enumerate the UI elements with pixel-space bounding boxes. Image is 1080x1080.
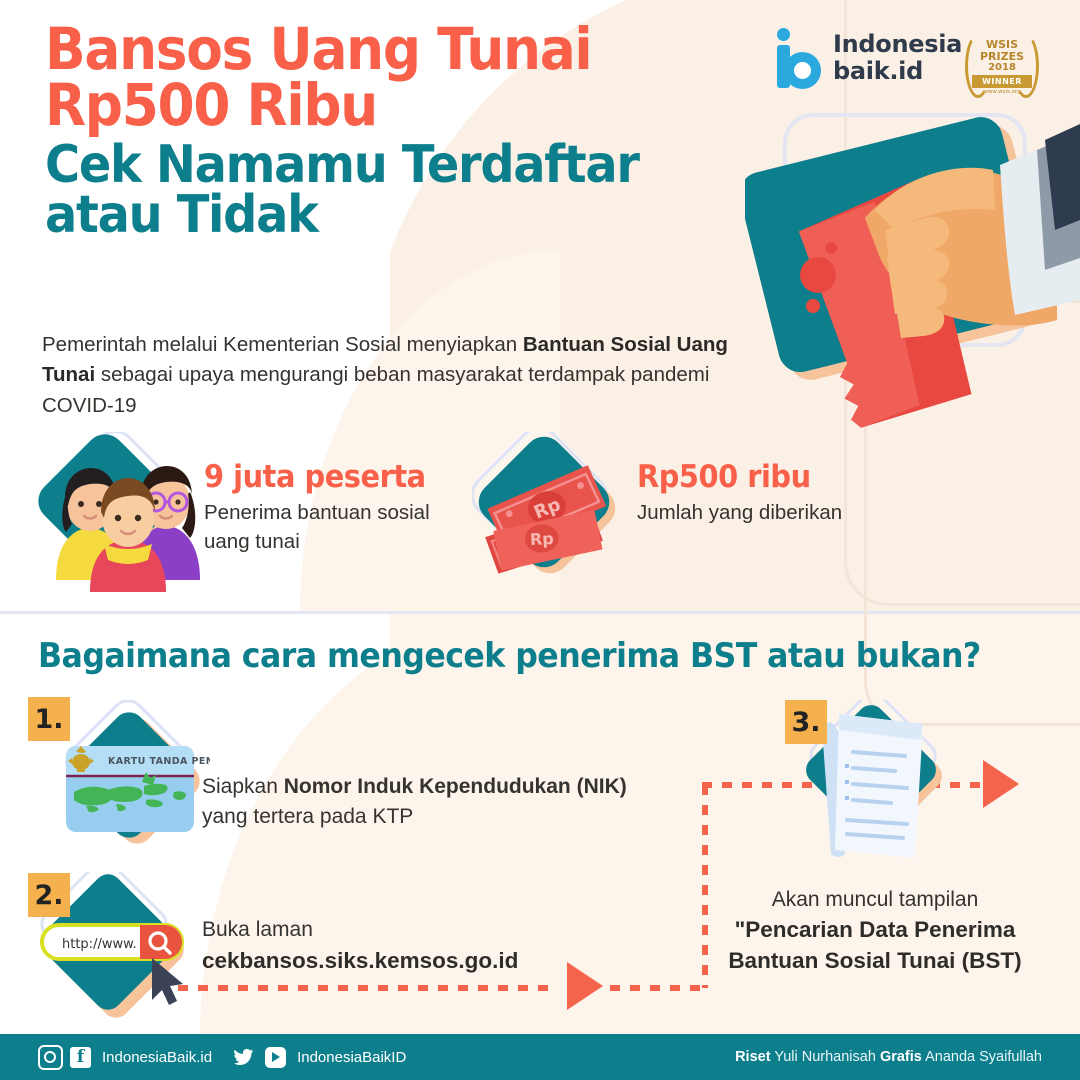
award-line-1: WSIS [986,39,1018,51]
connector-step2-to-corner [610,985,705,991]
title-line-1: Bansos Uang Tunai [45,22,671,78]
brand-name-line1: Indonesia [833,31,962,58]
steps-section-heading: Bagaimana cara mengecek penerima BST ata… [38,636,981,676]
intro-paragraph: Pemerintah melalui Kementerian Sosial me… [42,330,732,421]
step-2-badge: 2. [28,873,70,917]
social-handle-1: IndonesiaBaik.id [102,1049,212,1066]
money-icon: Rp Rp [472,432,632,592]
ktp-card-label: KARTU TANDA PENDUDUK [108,756,210,767]
credit-name-2: Ananda Syaifullah [925,1049,1042,1065]
credit-name-1: Yuli Nurhanisah [774,1049,876,1065]
connector-step2-horizontal [178,985,553,991]
connector-arrow-2 [983,760,1019,808]
stat-amount-value: Rp500 ribu [637,459,916,495]
facebook-icon[interactable]: f [70,1047,91,1068]
wsis-award-badge: WSIS PRIZES 2018 WINNER www.wsis.org [963,30,1041,104]
title-line-2: Rp500 Ribu [45,78,671,134]
stat-family-value: 9 juta peserta [204,459,446,495]
step-1-text-bold: Nomor Induk Kependudukan (NIK) [284,775,627,798]
award-year: 2018 [988,62,1016,73]
step-3-text-bold-1: "Pencarian Data Penerima [700,915,1050,945]
instagram-icon[interactable] [38,1045,63,1070]
infographic-page: Bansos Uang Tunai Rp500 Ribu Cek Namamu … [0,0,1080,1080]
step-1-text-part2: yang tertera pada KTP [202,805,413,828]
step-1-text: Siapkan Nomor Induk Kependudukan (NIK) y… [202,772,672,833]
step-1-badge: 1. [28,697,70,741]
page-title: Bansos Uang Tunai Rp500 Ribu Cek Namamu … [45,22,725,241]
youtube-icon[interactable] [265,1047,286,1068]
baik-b-icon [775,28,823,88]
ktp-card-icon: KARTU TANDA PENDUDUK [50,700,210,870]
stat-family-description: Penerima bantuan sosial uang tunai [204,499,464,556]
svg-text:Rp: Rp [529,529,554,549]
step-3-text-bold-2: Bantuan Sosial Tunai (BST) [700,946,1050,976]
search-placeholder: http://www. [62,937,137,952]
footer-social-group: f IndonesiaBaik.id IndonesiaBaikID [38,1045,416,1070]
wreath-left-icon [965,34,991,98]
subtitle-line-2: atau Tidak [45,191,671,241]
family-icon [38,432,210,592]
subtitle-line-1: Cek Namamu Terdaftar [45,141,671,191]
stat-amount-text: Rp500 ribu Jumlah yang diberikan [637,459,937,528]
brand-name: Indonesia baik.id [833,31,962,85]
intro-text-1: Pemerintah melalui Kementerian Sosial me… [42,333,523,356]
stat-family-text: 9 juta peserta Penerima bantuan sosial u… [204,459,464,556]
award-url: www.wsis.org [983,89,1020,95]
credit-label-1: Riset [735,1049,770,1065]
brand-name-line2: baik.id [833,58,962,85]
step-3-text: Akan muncul tampilan "Pencarian Data Pen… [700,885,1050,976]
step-2-text: Buka laman cekbansos.siks.kemsos.go.id [202,915,622,978]
footer-credits: Riset Yuli Nurhanisah Grafis Ananda Syai… [735,1049,1042,1065]
wreath-right-icon [1013,34,1039,98]
step-3-badge: 3. [785,700,827,744]
footer-bar: f IndonesiaBaik.id IndonesiaBaikID Riset… [0,1034,1080,1080]
hand-holding-envelope-illustration [745,110,1080,430]
brand-logo: Indonesia baik.id [775,28,962,88]
social-handle-2: IndonesiaBaikID [297,1049,406,1066]
stat-amount-description: Jumlah yang diberikan [637,499,937,528]
step-3-text-part1: Akan muncul tampilan [700,885,1050,915]
step-2-url[interactable]: cekbansos.siks.kemsos.go.id [202,945,622,978]
step-1-text-part1: Siapkan [202,775,284,798]
intro-text-2: sebagai upaya mengurangi beban masyaraka… [42,363,709,416]
step-2-text-part1: Buka laman [202,915,622,945]
twitter-icon[interactable] [233,1047,254,1068]
credit-label-2: Grafis [880,1049,922,1065]
